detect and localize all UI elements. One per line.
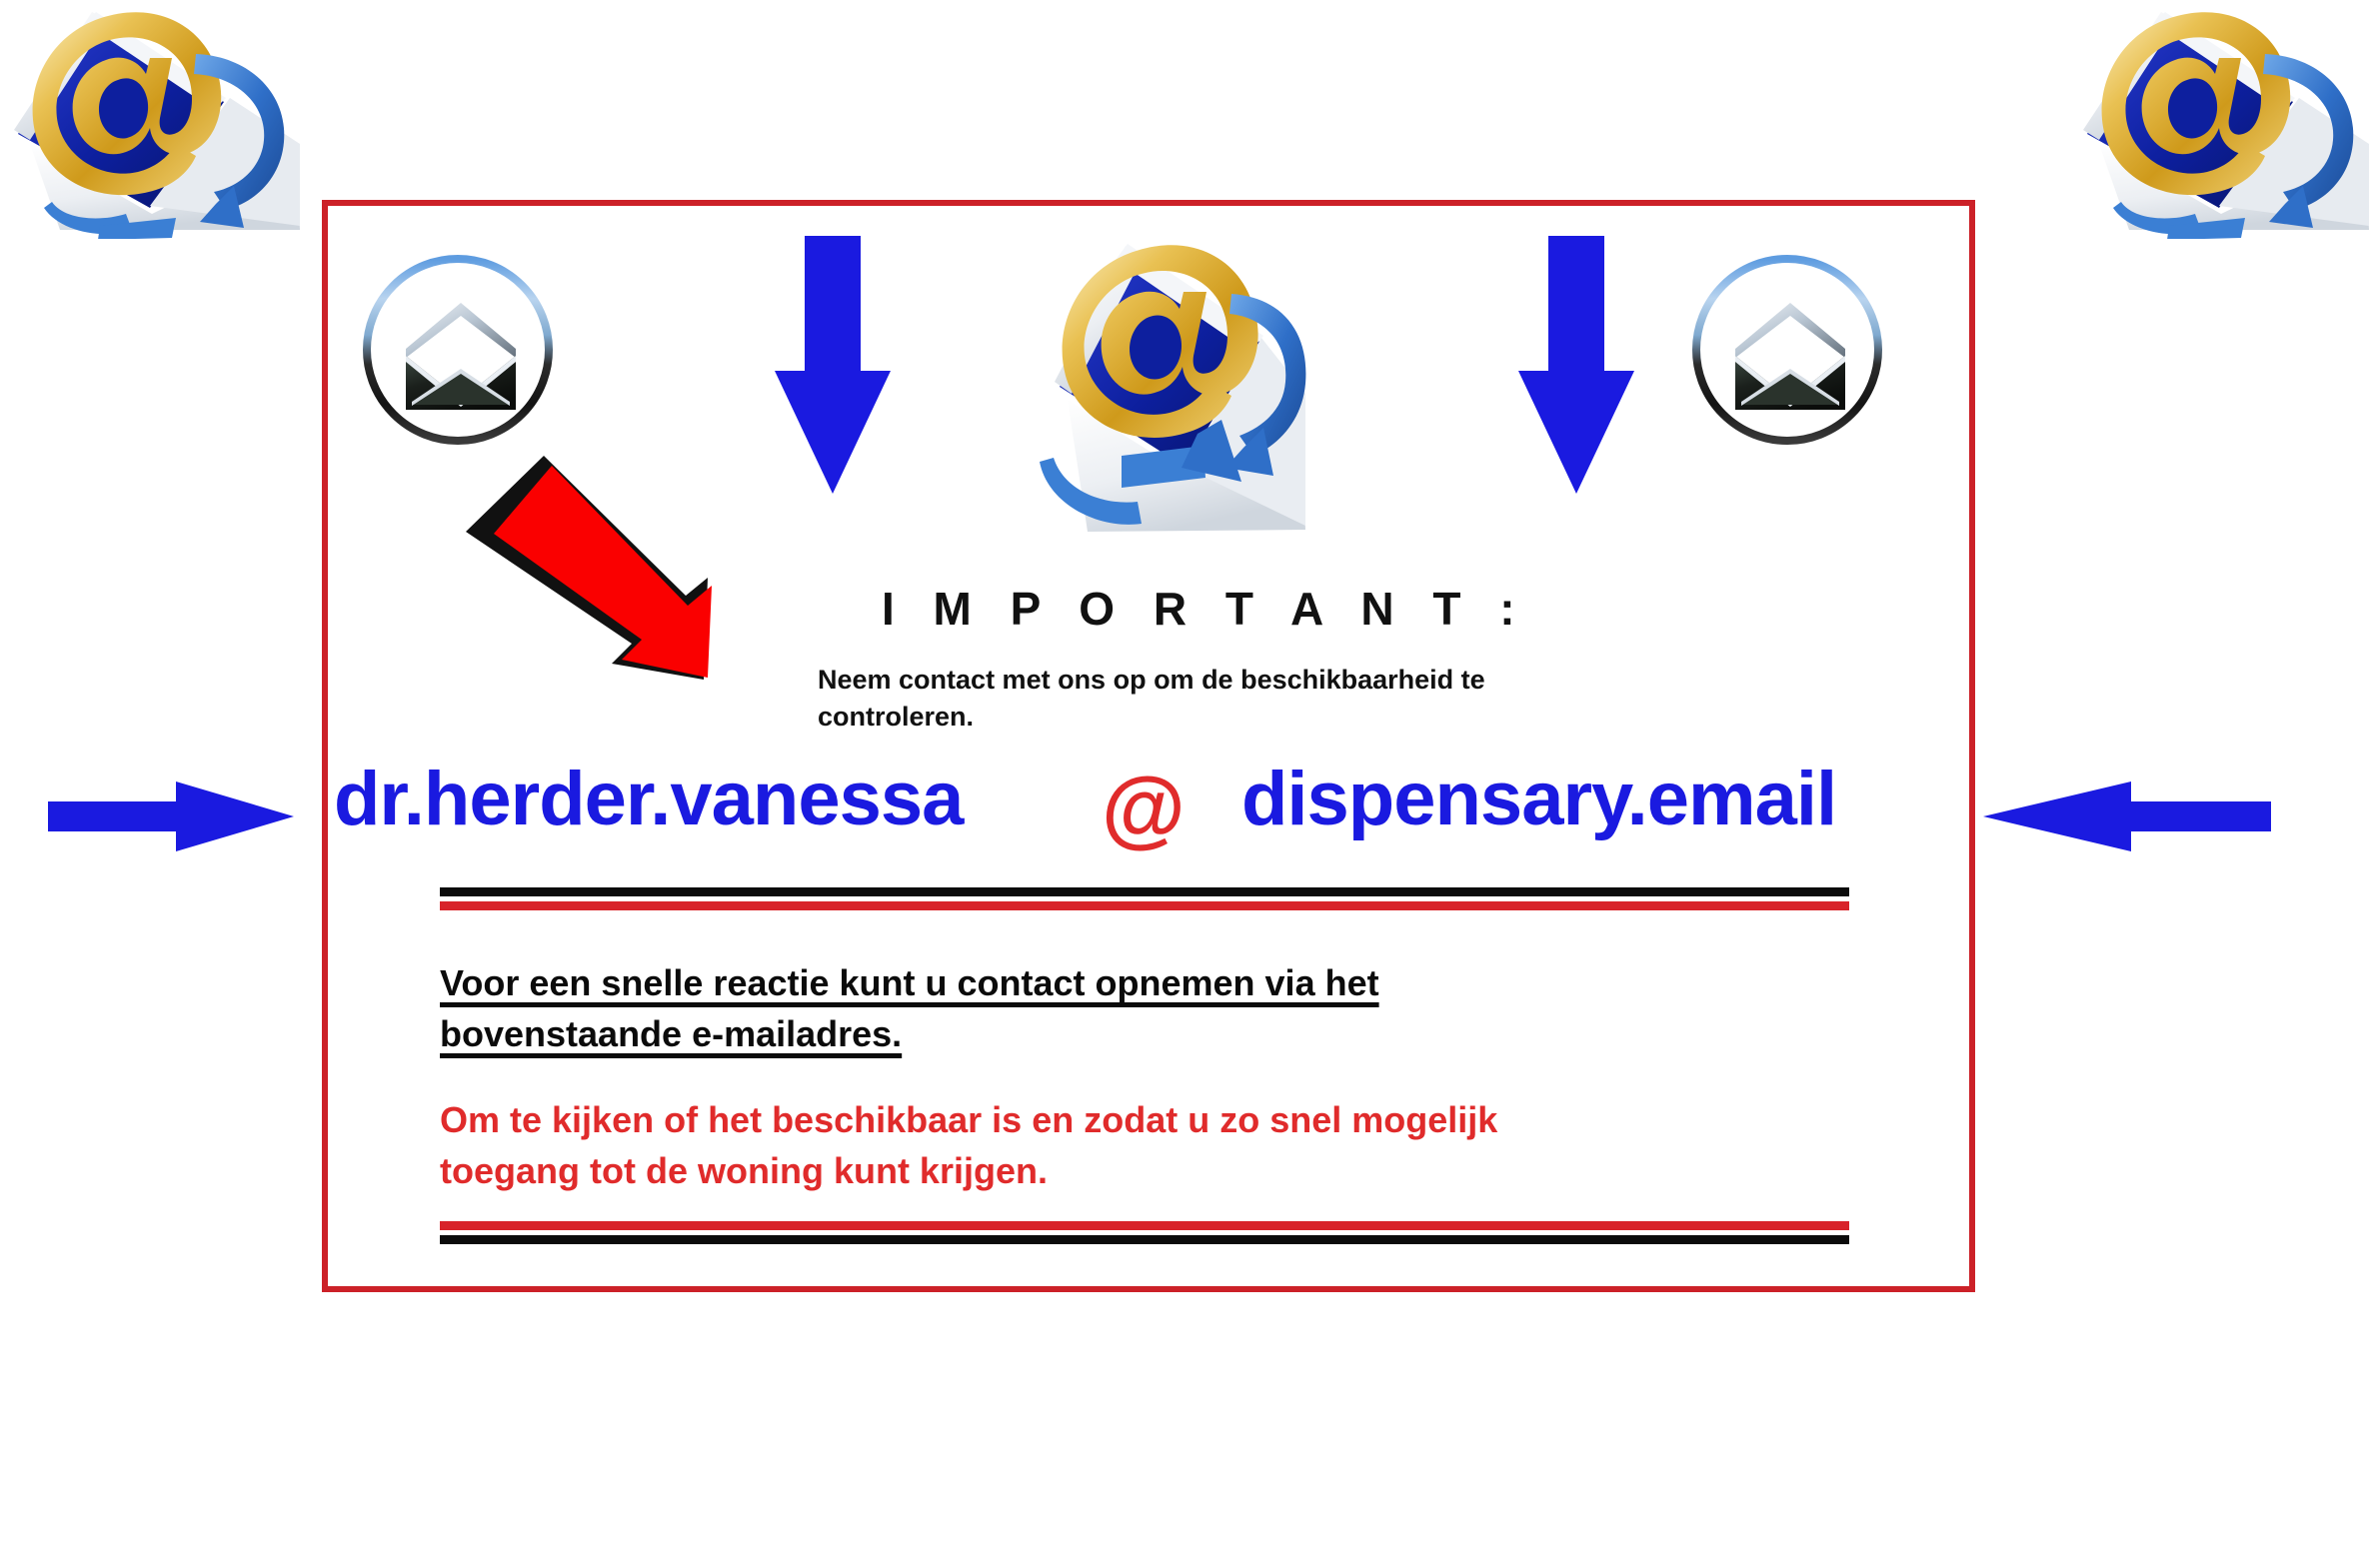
envelope-at-sign-icon-center [1010,212,1309,552]
instruction-paragraph: Voor een snelle reactie kunt u contact o… [440,957,1619,1059]
blue-down-arrow-icon-right [1511,236,1641,496]
divider-bottom-red-rule [440,1221,1849,1230]
circle-envelope-icon-left [358,250,558,450]
instruction-line-1: Voor een snelle reactie kunt u contact o… [440,962,1379,1003]
important-heading: I M P O R T A N T : [882,582,1528,636]
email-address-row: dr.herder.vanessa @ dispensary.email [322,756,1975,865]
divider-top-black-rule [440,887,1849,896]
divider-top [440,887,1849,910]
contact-note-text: Neem contact met ons op om de beschikbaa… [818,662,1617,737]
blue-left-arrow-icon [1981,781,2271,851]
circle-envelope-icon-right [1687,250,1887,450]
email-local-part[interactable]: dr.herder.vanessa [334,756,963,842]
divider-top-red-rule [440,901,1849,910]
email-domain-part[interactable]: dispensary.email [1241,756,1836,842]
availability-line-2: toegang tot de woning kunt krijgen. [440,1145,1669,1196]
envelope-at-sign-icon-top-left [0,0,310,239]
red-diagonal-arrow-icon [436,428,746,688]
at-sign-icon: @ [1102,766,1186,851]
blue-right-arrow-icon [48,781,296,851]
availability-paragraph: Om te kijken of het beschikbaar is en zo… [440,1094,1669,1196]
blue-down-arrow-icon-left [768,236,898,496]
availability-line-1: Om te kijken of het beschikbaar is en zo… [440,1094,1669,1145]
divider-bottom [440,1221,1849,1244]
divider-bottom-black-rule [440,1235,1849,1244]
envelope-at-sign-icon-top-right [2069,0,2379,239]
instruction-line-2: bovenstaande e-mailadres. [440,1013,902,1054]
